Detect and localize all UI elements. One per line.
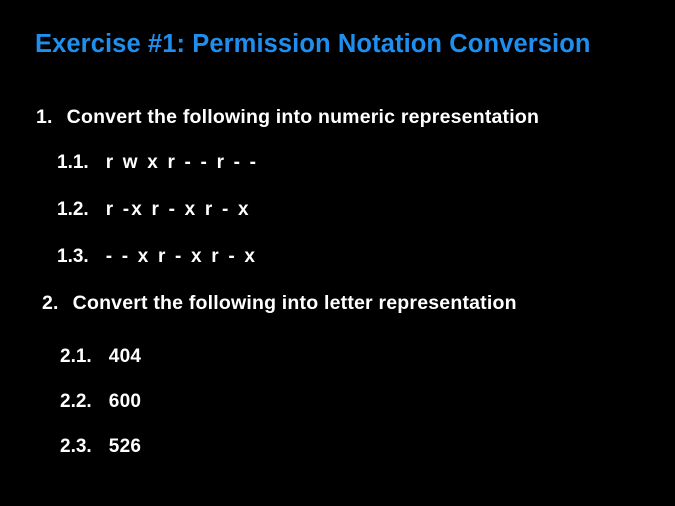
outline-subitem-2-2-value: 600 — [109, 392, 142, 413]
outline-subitem-1-2-value: r -x r - x r - x — [106, 200, 251, 221]
outline-item-1: 1.Convert the following into numeric rep… — [36, 107, 539, 128]
outline-item-2-number: 2. — [42, 292, 59, 314]
outline-subitem-1-1: 1.1.r w x r - - r - - — [57, 153, 258, 174]
outline-item-2: 2.Convert the following into letter repr… — [42, 293, 517, 314]
outline-subitem-1-2: 1.2.r -x r - x r - x — [57, 200, 251, 221]
outline-subitem-1-3: 1.3.- - x r - x r - x — [57, 247, 257, 268]
outline-item-2-text: Convert the following into letter repres… — [73, 292, 517, 314]
outline-subitem-1-3-number: 1.3. — [57, 247, 89, 268]
outline-subitem-2-3: 2.3.526 — [60, 437, 141, 458]
slide-body: 1.Convert the following into numeric rep… — [0, 0, 675, 506]
outline-subitem-2-1-value: 404 — [109, 347, 142, 368]
outline-subitem-1-1-number: 1.1. — [57, 153, 89, 174]
outline-item-1-number: 1. — [36, 106, 53, 128]
outline-subitem-2-3-number: 2.3. — [60, 437, 92, 458]
slide-canvas: Exercise #1: Permission Notation Convers… — [0, 0, 675, 506]
outline-subitem-1-1-value: r w x r - - r - - — [106, 153, 258, 174]
outline-item-1-text: Convert the following into numeric repre… — [67, 106, 539, 128]
outline-subitem-1-2-number: 1.2. — [57, 200, 89, 221]
outline-subitem-2-3-value: 526 — [109, 437, 142, 458]
outline-subitem-1-3-value: - - x r - x r - x — [106, 247, 257, 268]
outline-subitem-2-2-number: 2.2. — [60, 392, 92, 413]
outline-subitem-2-1: 2.1.404 — [60, 347, 141, 368]
outline-subitem-2-2: 2.2.600 — [60, 392, 141, 413]
outline-subitem-2-1-number: 2.1. — [60, 347, 92, 368]
